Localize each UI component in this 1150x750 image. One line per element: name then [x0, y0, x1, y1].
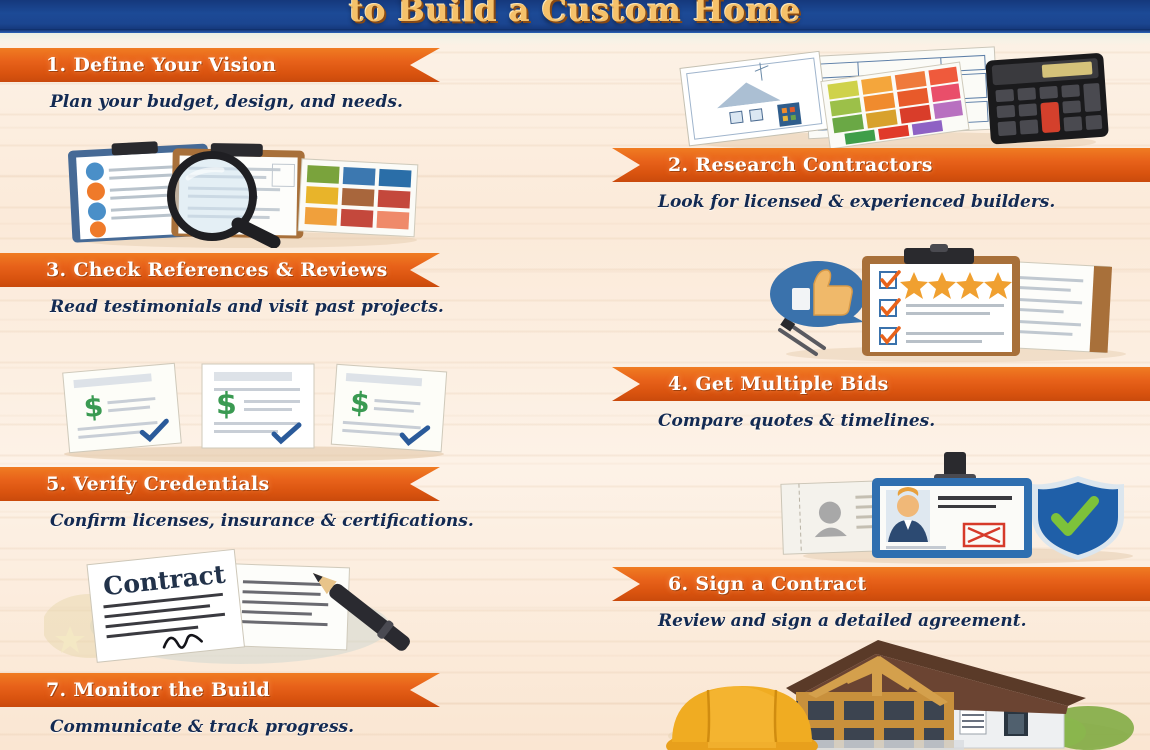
step-3-caption: Read testimonials and visit past project…	[50, 297, 444, 317]
thumbs-up-icon	[770, 261, 866, 327]
step-4: 4. Get Multiple Bids Compare quotes & ti…	[612, 367, 1150, 431]
verified-shield-icon	[1032, 476, 1124, 560]
step-7: 7. Monitor the Build Communicate & track…	[0, 673, 440, 737]
step-6: 6. Sign a Contract Review and sign a det…	[612, 567, 1150, 631]
infographic-canvas: to Build a Custom Home	[0, 0, 1150, 750]
step-2-caption: Look for licensed & experienced builders…	[658, 192, 1150, 212]
step-4-title: 4. Get Multiple Bids	[668, 373, 889, 395]
page-title: to Build a Custom Home	[0, 0, 1150, 29]
step-6-banner[interactable]: 6. Sign a Contract	[612, 567, 1150, 601]
step-7-banner[interactable]: 7. Monitor the Build	[0, 673, 440, 707]
illustration-contract-document-with-pen: Contract	[44, 548, 444, 666]
step-2: 2. Research Contractors Look for license…	[612, 148, 1150, 212]
step-3: 3. Check References & Reviews Read testi…	[0, 253, 444, 317]
illustration-clipboard-magnifying-glass-color-card	[52, 136, 442, 248]
step-3-banner[interactable]: 3. Check References & Reviews	[0, 253, 440, 287]
step-5-banner[interactable]: 5. Verify Credentials	[0, 467, 440, 501]
step-7-title: 7. Monitor the Build	[46, 679, 270, 701]
svg-text:$: $	[349, 385, 371, 419]
step-6-caption: Review and sign a detailed agreement.	[658, 611, 1150, 631]
illustration-id-badge-with-verified-shield	[768, 452, 1150, 564]
step-7-caption: Communicate & track progress.	[50, 717, 440, 737]
illustration-thumbs-up-bubble-star-rating-clipboard	[756, 244, 1148, 362]
step-5-title: 5. Verify Credentials	[46, 473, 270, 495]
step-3-title: 3. Check References & Reviews	[46, 259, 388, 281]
svg-text:$: $	[82, 390, 104, 425]
step-6-title: 6. Sign a Contract	[668, 573, 866, 595]
step-5: 5. Verify Credentials Confirm licenses, …	[0, 467, 474, 531]
step-4-caption: Compare quotes & timelines.	[658, 411, 1150, 431]
illustration-three-dollar-quote-documents: $ $	[44, 356, 464, 462]
step-4-banner[interactable]: 4. Get Multiple Bids	[612, 367, 1150, 401]
step-1-caption: Plan your budget, design, and needs.	[50, 92, 440, 112]
step-1: 1. Define Your Vision Plan your budget, …	[0, 48, 440, 112]
step-5-caption: Confirm licenses, insurance & certificat…	[50, 511, 474, 531]
illustration-house-under-construction-with-hard-hat	[648, 636, 1148, 750]
title-banner: to Build a Custom Home	[0, 0, 1150, 33]
step-2-title: 2. Research Contractors	[668, 154, 933, 176]
svg-text:$: $	[216, 387, 237, 422]
step-1-banner[interactable]: 1. Define Your Vision	[0, 48, 440, 82]
step-2-banner[interactable]: 2. Research Contractors	[612, 148, 1150, 182]
hard-hat-icon	[666, 686, 818, 750]
step-1-title: 1. Define Your Vision	[46, 54, 276, 76]
illustration-blueprints-color-swatches-calculator	[676, 42, 1116, 152]
